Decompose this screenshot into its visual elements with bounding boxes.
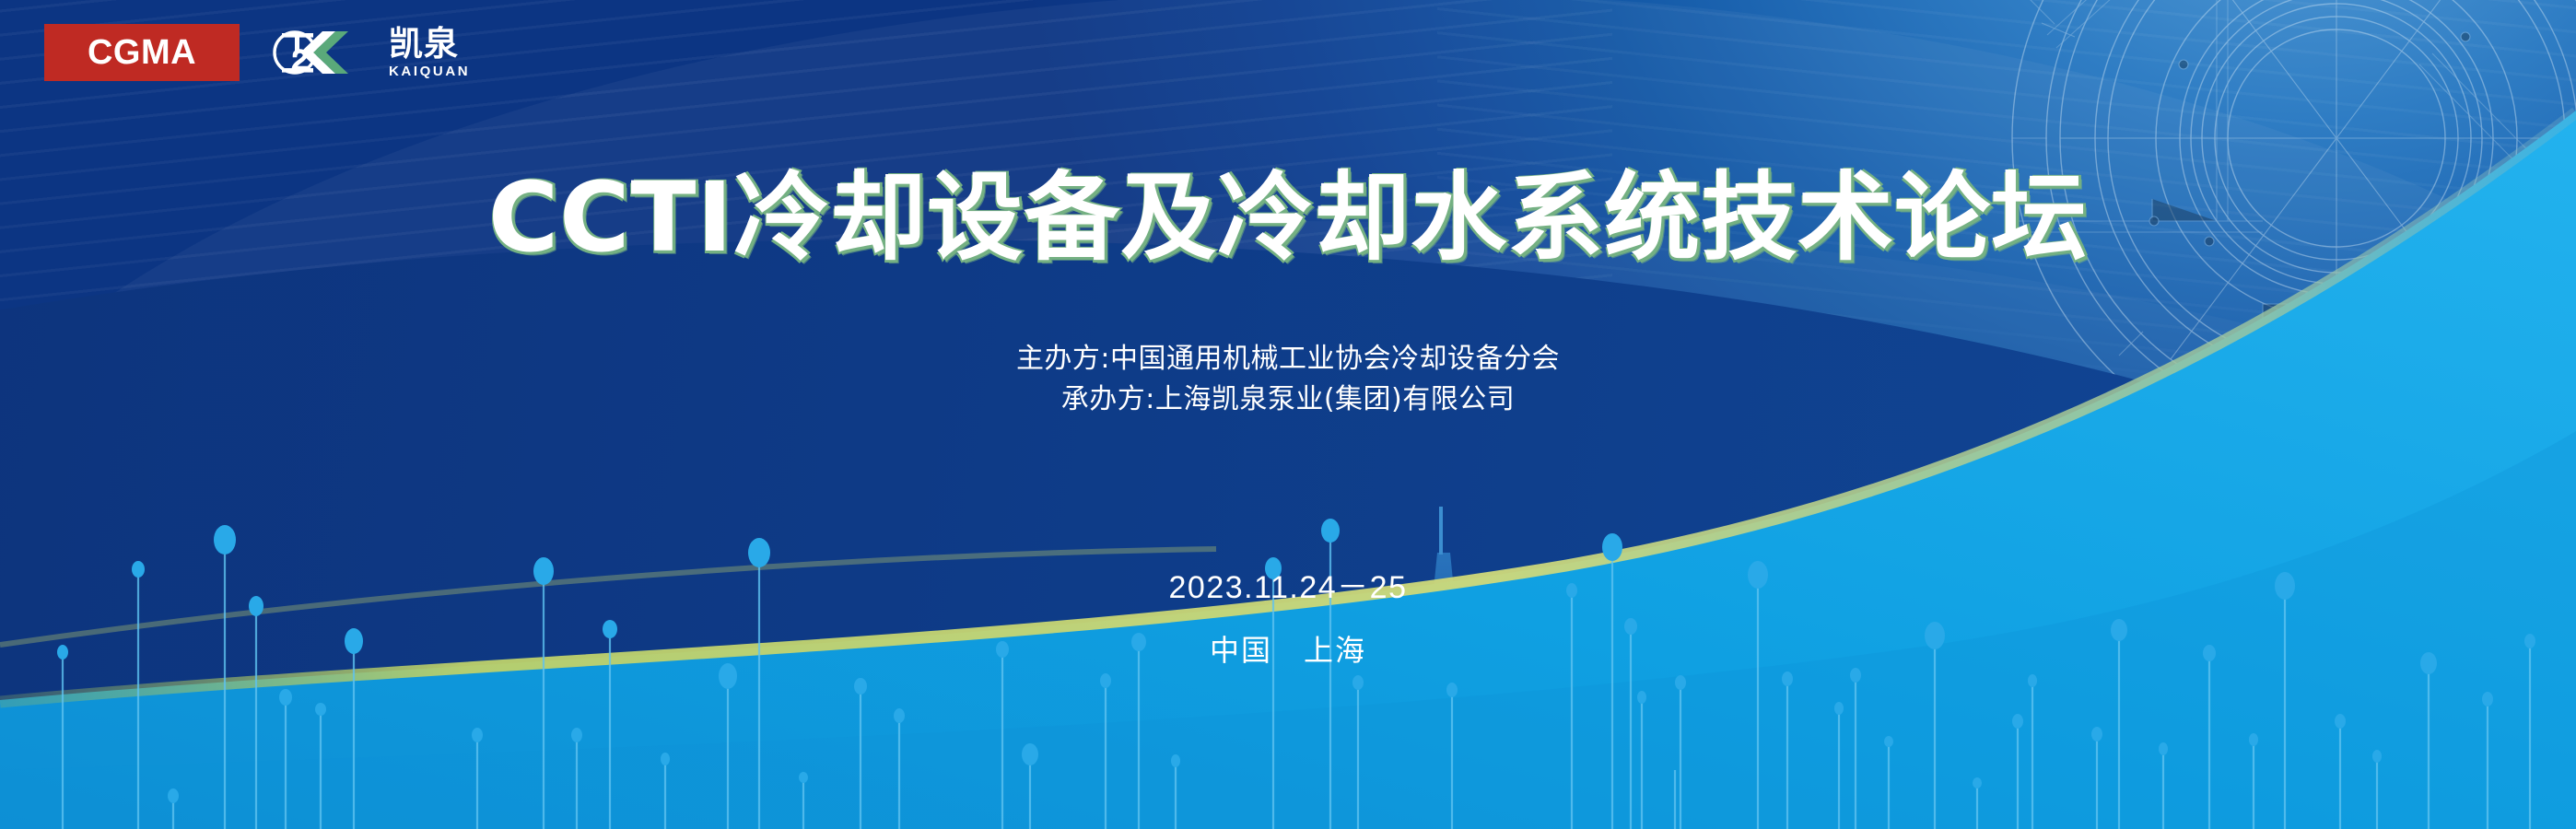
subtitle-block: 主办方:中国通用机械工业协会冷却设备分会 承办方:上海凯泉泵业(集团)有限公司 [0, 339, 2576, 419]
kaiquan-wordmark: 凯泉 KAIQUAN [389, 27, 470, 78]
logo-row: CGMA [44, 24, 470, 81]
kaiquan-mark-icon [267, 24, 376, 81]
kaiquan-chinese-name: 凯泉 [389, 27, 459, 61]
kaiquan-english-name: KAIQUAN [389, 64, 470, 78]
conference-banner: CGMA [0, 0, 2576, 829]
cgma-logo[interactable]: CGMA [44, 24, 240, 81]
kaiquan-logo[interactable]: 凯泉 KAIQUAN [267, 24, 470, 81]
page-title: CCTI冷却设备及冷却水系统技术论坛 [0, 169, 2576, 265]
event-location: 中国 上海 [0, 627, 2576, 670]
organizer-line: 主办方:中国通用机械工业协会冷却设备分会 [0, 339, 2576, 379]
event-meta-block: 2023.11.24－25 中国 上海 [0, 562, 2576, 670]
cgma-logo-text: CGMA [88, 35, 196, 70]
host-line: 承办方:上海凯泉泵业(集团)有限公司 [0, 379, 2576, 420]
event-date: 2023.11.24－25 [0, 562, 2576, 607]
